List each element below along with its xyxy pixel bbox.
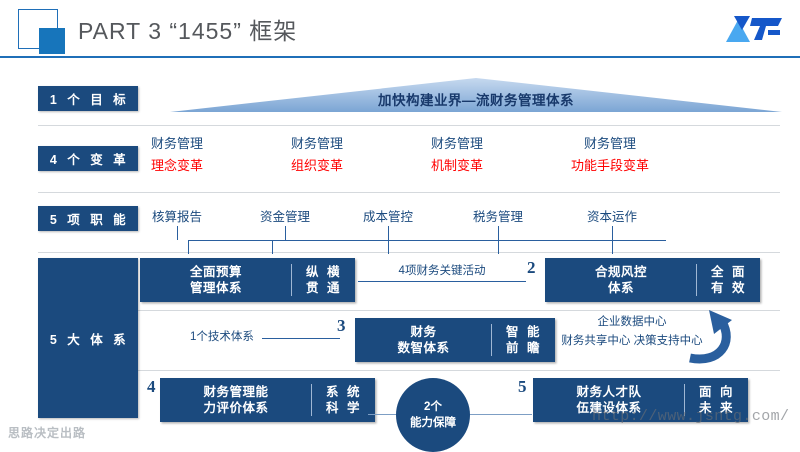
system-name-line1: 全面预算 xyxy=(190,264,242,280)
system-box-name: 全面预算 管理体系 xyxy=(141,259,291,301)
system-box-attribute: 全 面 有 效 xyxy=(697,259,759,301)
curved-arrow-icon xyxy=(678,304,740,366)
system-box-digital[interactable]: 财务 数智体系 智 能 前 瞻 xyxy=(355,318,555,362)
capability-circle: 2个 能力保障 xyxy=(396,378,470,452)
function-stem-line xyxy=(388,226,389,240)
reform-bottom-label: 功能手段变革 xyxy=(545,156,675,176)
system-attr-line1: 智 能 xyxy=(506,324,542,340)
system-name-line2: 管理体系 xyxy=(190,280,242,296)
stage-tag-systems: 5 大 体 系 xyxy=(38,258,138,418)
system-number: 4 xyxy=(147,377,156,397)
goal-banner: 加快构建业界—流财务管理体系 xyxy=(170,78,782,114)
function-label: 成本管控 xyxy=(333,206,443,225)
capability-line-right xyxy=(464,414,532,415)
reform-top-label: 财务管理 xyxy=(392,134,522,153)
function-stem-line xyxy=(285,226,286,240)
system-box-name: 财务 数智体系 xyxy=(356,319,491,361)
system-name-line2: 数智体系 xyxy=(397,340,449,356)
function-stem-line xyxy=(612,226,613,240)
reform-top-label: 财务管理 xyxy=(252,134,382,153)
system-name-line1: 财务人才队 xyxy=(576,384,641,400)
function-label: 资本运作 xyxy=(557,206,667,225)
system-box-budget[interactable]: 全面预算 管理体系 纵 横 贯 通 xyxy=(140,258,355,302)
capability-line2: 能力保障 xyxy=(410,415,456,431)
reform-top-label: 财务管理 xyxy=(112,134,242,153)
header-divider xyxy=(0,56,800,58)
system-attr-line1: 面 向 xyxy=(699,384,735,400)
reform-item: 财务管理 理念变革 xyxy=(112,134,242,176)
system-attr-line2: 有 效 xyxy=(711,280,747,296)
system-number: 2 xyxy=(527,258,536,278)
system-attr-line1: 系 统 xyxy=(326,384,362,400)
reform-item: 财务管理 机制变革 xyxy=(392,134,522,176)
tech-system-line xyxy=(262,338,340,339)
system-box-evaluation[interactable]: 财务管理能 力评价体系 系 统 科 学 xyxy=(160,378,375,422)
system-name-line2: 体系 xyxy=(608,280,634,296)
stage-tag-goal: 1 个 目 标 xyxy=(38,86,138,111)
system-number: 5 xyxy=(518,377,527,397)
footer-slogan: 思路决定出路 xyxy=(8,424,86,441)
divider-5 xyxy=(38,370,780,371)
reform-bottom-label: 组织变革 xyxy=(252,156,382,176)
system-box-name: 财务管理能 力评价体系 xyxy=(161,379,311,421)
capability-line1: 2个 xyxy=(424,399,442,415)
reform-top-label: 财务管理 xyxy=(545,134,675,153)
reform-item: 财务管理 组织变革 xyxy=(252,134,382,176)
system-attr-line2: 科 学 xyxy=(326,400,362,416)
system-box-compliance[interactable]: 合规风控 体系 全 面 有 效 xyxy=(545,258,760,302)
key-activities-label: 4项财务关键活动 xyxy=(362,262,522,278)
function-stem-line xyxy=(177,226,178,240)
function-bracket xyxy=(188,240,666,255)
system-attr-line1: 纵 横 xyxy=(306,264,342,280)
function-label: 税务管理 xyxy=(443,206,553,225)
function-label: 资金管理 xyxy=(230,206,340,225)
system-name-line1: 合规风控 xyxy=(595,264,647,280)
slide-root: PART 3 “1455” 框架 1 个 目 标 4 个 变 革 5 项 职 能… xyxy=(0,0,800,450)
tech-system-label: 1个技术体系 xyxy=(190,328,254,344)
key-activities-line xyxy=(358,281,526,282)
system-number: 3 xyxy=(337,316,346,336)
divider-4 xyxy=(38,310,780,311)
header-square-filled-icon xyxy=(39,28,65,54)
watermark-url: http://www.jsntg.com/ xyxy=(592,408,789,425)
goal-banner-text: 加快构建业界—流财务管理体系 xyxy=(170,78,782,114)
system-name-line1: 财务管理能 xyxy=(203,384,268,400)
system-name-line1: 财务 xyxy=(410,324,436,340)
system-name-line2: 力评价体系 xyxy=(203,400,268,416)
system-box-attribute: 纵 横 贯 通 xyxy=(292,259,354,301)
page-title: PART 3 “1455” 框架 xyxy=(78,15,297,47)
reform-bottom-label: 机制变革 xyxy=(392,156,522,176)
reform-item: 财务管理 功能手段变革 xyxy=(545,134,675,176)
reform-bottom-label: 理念变革 xyxy=(112,156,242,176)
divider-2 xyxy=(38,192,780,193)
system-attr-line2: 前 瞻 xyxy=(506,340,542,356)
function-label: 核算报告 xyxy=(122,206,232,225)
system-box-name: 合规风控 体系 xyxy=(546,259,696,301)
function-stem-line xyxy=(498,226,499,240)
system-box-attribute: 系 统 科 学 xyxy=(312,379,374,421)
ntg-logo-icon xyxy=(724,12,786,46)
divider-1 xyxy=(38,125,780,126)
system-attr-line2: 贯 通 xyxy=(306,280,342,296)
system-attr-line1: 全 面 xyxy=(711,264,747,280)
